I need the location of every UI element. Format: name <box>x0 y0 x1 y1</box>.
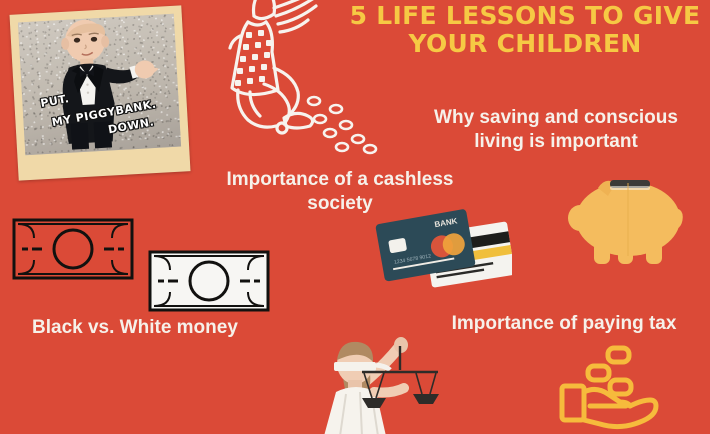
title-line-1: 5 LIFE LESSONS TO GIVE <box>350 1 701 30</box>
caption-black-white-money: Black vs. White money <box>14 316 322 340</box>
banknote-filled-icon <box>148 250 270 312</box>
coin-1 <box>608 348 629 362</box>
hand-receiving-coins-icon <box>556 342 678 434</box>
baby-in-tuxedo-illustration <box>18 14 181 156</box>
piggy-bank-icon <box>568 164 688 276</box>
blindfold <box>334 362 376 371</box>
coin-2 <box>588 366 609 380</box>
coin-3 <box>610 380 631 394</box>
title-line-2: YOUR CHILDREN <box>345 30 705 58</box>
banknote-outline-icon <box>12 218 134 280</box>
caption-saving-line-1: Why saving and conscious <box>434 107 678 128</box>
sleeve-cuff <box>562 386 584 420</box>
caption-cashless: Importance of a cashless society <box>190 168 490 216</box>
lady-justice-scales-icon <box>300 336 440 434</box>
meme-photo-frame: PUT. MY PIGGYBANK. DOWN. <box>10 5 191 180</box>
caption-paying-tax: Importance of paying tax <box>420 312 708 336</box>
caption-cashless-line-2: society <box>307 193 372 214</box>
meme-photo-image: PUT. MY PIGGYBANK. DOWN. <box>18 14 181 156</box>
page-title: 5 LIFE LESSONS TO GIVE YOUR CHILDREN <box>345 2 705 58</box>
caption-cashless-line-1: Importance of a cashless <box>226 169 453 190</box>
infographic-poster: 5 LIFE LESSONS TO GIVE YOUR CHILDREN <box>0 0 710 434</box>
caption-saving-line-2: living is important <box>474 131 638 152</box>
falling-coins-icon <box>300 95 400 155</box>
caption-saving: Why saving and conscious living is impor… <box>410 106 702 154</box>
